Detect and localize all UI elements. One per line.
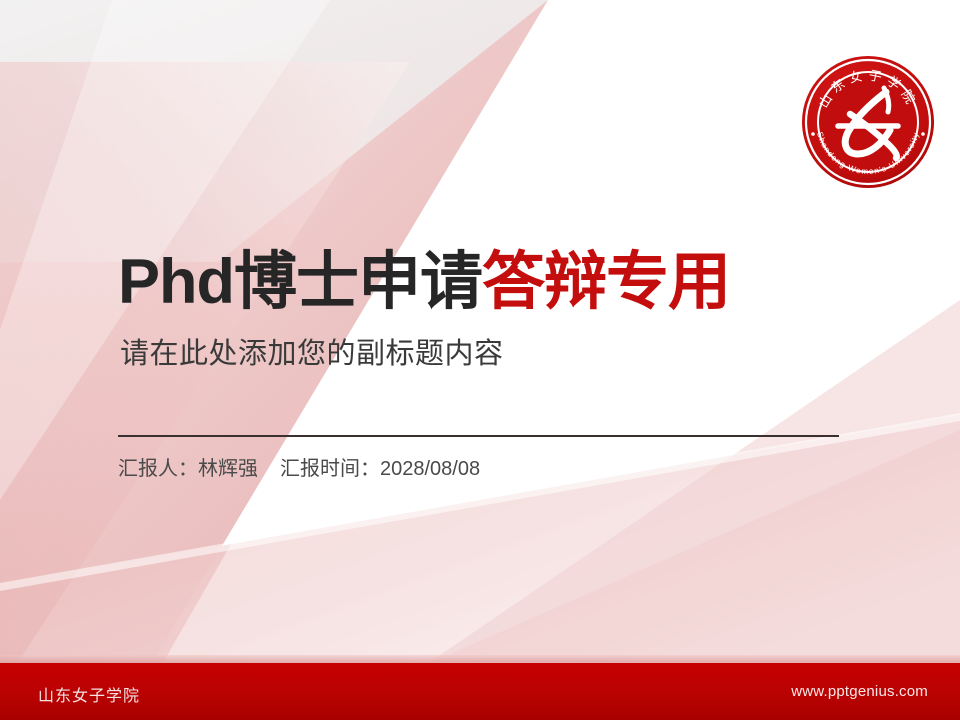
footer-website-url[interactable]: www.pptgenius.com [791,683,928,700]
presenter-name: 林辉强 [198,458,258,480]
presenter-label: 汇报人： [118,458,198,480]
title-red-segment: 答辩专用 [482,247,730,317]
horizontal-divider [118,435,839,437]
footer-highlight-strip [0,655,960,663]
title-block: Phd博士申请答辩专用 请在此处添加您的副标题内容 [118,248,878,372]
date-label: 汇报时间： [280,458,380,480]
page-title: Phd博士申请答辩专用 [118,248,878,316]
page-subtitle: 请在此处添加您的副标题内容 [120,330,878,372]
footer-organization-name: 山东女子学院 [38,682,140,706]
date-value: 2028/08/08 [380,458,480,480]
university-logo: 山东女子学院 Shandong Women's University [798,52,938,192]
presentation-slide: 山东女子学院 Shandong Women's University Phd博士… [0,0,960,720]
title-dark-segment: Phd博士申请 [118,247,482,317]
logo-dot-left [811,132,815,136]
logo-dot-right [921,132,925,136]
presenter-meta-line: 汇报人：林辉强汇报时间：2028/08/08 [118,452,480,481]
